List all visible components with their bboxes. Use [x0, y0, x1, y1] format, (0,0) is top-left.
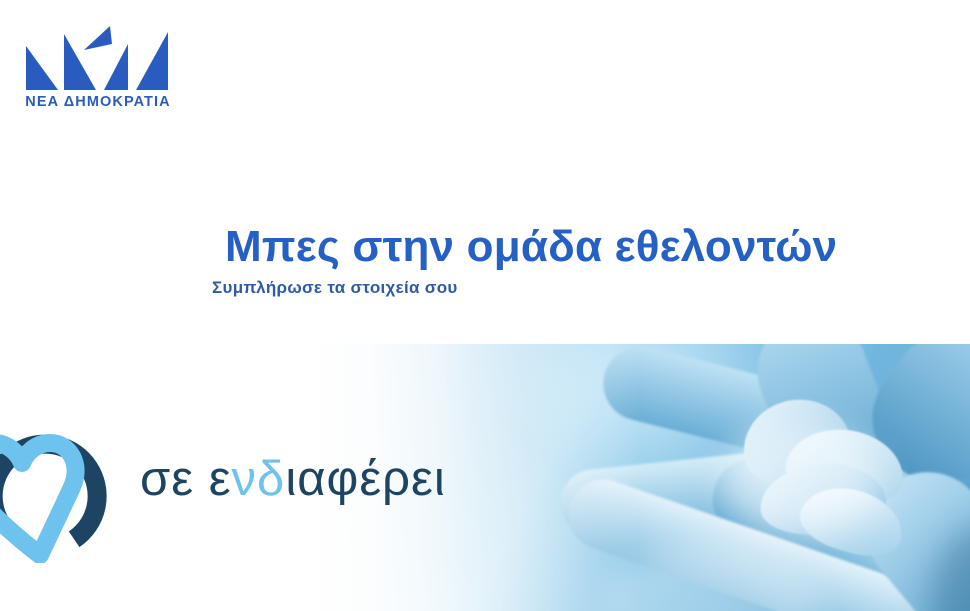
hero-text-block: Μπες στην ομάδα εθελοντών Συμπλήρωσε τα …: [212, 222, 952, 298]
page-title: Μπες στην ομάδα εθελοντών: [225, 222, 952, 271]
tagline-part-1: σε ε: [140, 452, 232, 506]
page-subtitle: Συμπλήρωσε τα στοιχεία σου: [212, 278, 952, 298]
brand-logo[interactable]: ΝΕΑ ΔΗΜΟΚΡΑΤΙΑ: [18, 26, 178, 118]
tagline-part-highlight: νδ: [232, 452, 286, 506]
nea-dimokratia-nd-mark-icon: [18, 26, 178, 92]
brand-name: ΝΕΑ ΔΗΜΟΚΡΑΤΙΑ: [18, 94, 178, 110]
heart-in-circle-icon: [0, 413, 138, 563]
tagline-part-3: ιαφέρει: [285, 452, 445, 506]
landing-page: ΝΕΑ ΔΗΜΟΚΡΑΤΙΑ Μπες στην ομάδα εθελοντών…: [0, 0, 970, 611]
campaign-tagline: σε ενδιαφέρει: [140, 455, 446, 504]
